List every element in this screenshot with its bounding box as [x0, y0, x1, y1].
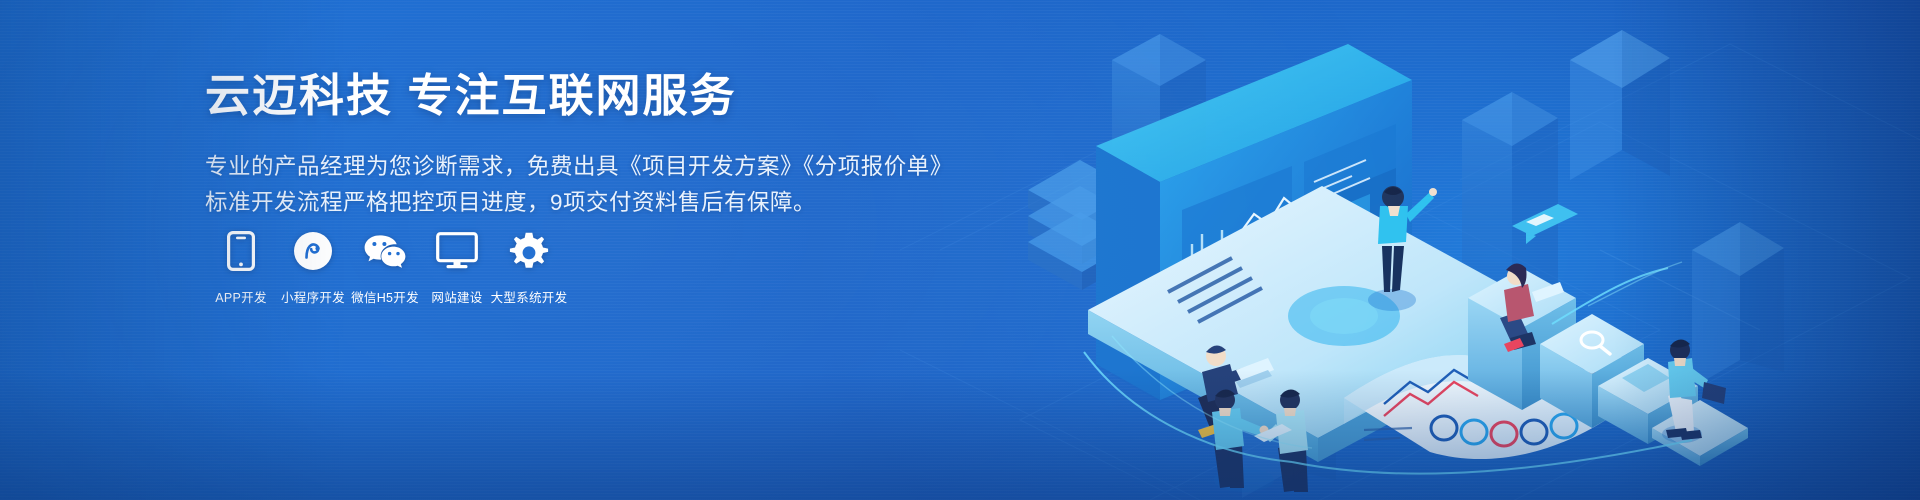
isometric-illustration [992, 0, 1892, 500]
monitor-icon [436, 228, 478, 274]
banner-copy: 云迈科技 专注互联网服务 专业的产品经理为您诊断需求，免费出具《项目开发方案》《… [205, 70, 965, 222]
service-label: APP开发 [215, 287, 267, 306]
service-list: APP开发 小程序开发 [205, 228, 565, 306]
service-item-website[interactable]: 网站建设 [421, 228, 493, 306]
service-item-large-system[interactable]: 大型系统开发 [493, 228, 565, 306]
mobile-phone-icon [227, 228, 255, 274]
service-label: 小程序开发 [281, 287, 345, 306]
subtitle-line-2: 标准开发流程严格把控项目进度，9项交付资料售后有保障。 [205, 185, 965, 221]
gear-icon [508, 228, 550, 274]
promo-banner: 云迈科技 专注互联网服务 专业的产品经理为您诊断需求，免费出具《项目开发方案》《… [0, 0, 1920, 500]
wechat-icon [363, 228, 407, 274]
banner-subtitle: 专业的产品经理为您诊断需求，免费出具《项目开发方案》《分项报价单》 标准开发流程… [205, 149, 965, 222]
subtitle-line-1: 专业的产品经理为您诊断需求，免费出具《项目开发方案》《分项报价单》 [205, 149, 965, 185]
service-item-mini-program[interactable]: 小程序开发 [277, 228, 349, 306]
mini-program-icon [293, 228, 333, 274]
service-item-app[interactable]: APP开发 [205, 228, 277, 306]
page-title: 云迈科技 专注互联网服务 [205, 70, 965, 122]
service-item-wechat-h5[interactable]: 微信H5开发 [349, 228, 421, 306]
service-label: 网站建设 [431, 287, 482, 306]
service-label: 微信H5开发 [351, 287, 419, 306]
service-label: 大型系统开发 [491, 287, 568, 306]
